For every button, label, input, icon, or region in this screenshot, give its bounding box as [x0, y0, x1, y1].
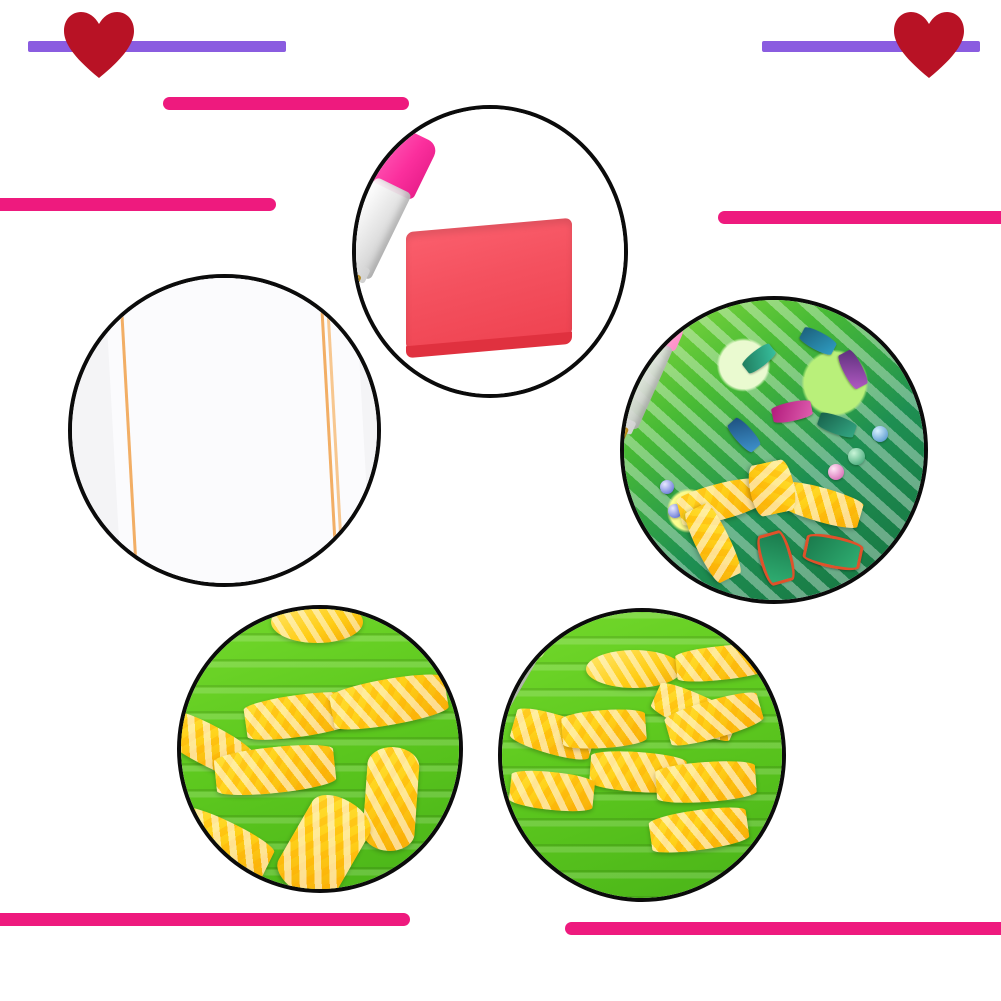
- canvas-jewel: [725, 416, 762, 455]
- step-5-scene: [622, 298, 926, 602]
- tray-diamond: [269, 785, 378, 893]
- tray-diamond: [271, 605, 363, 643]
- step-4-photo: [498, 608, 786, 902]
- step-4-scene: [500, 610, 784, 900]
- tray-diamond: [177, 801, 278, 884]
- header-banner: [0, 0, 1001, 92]
- canvas-jewel: [836, 348, 871, 390]
- step-3-scene: [179, 607, 461, 891]
- tray-diamond: [648, 803, 751, 856]
- step-5-label: [718, 211, 1001, 224]
- canvas-dot: [828, 464, 844, 480]
- step-2-photo: [68, 274, 381, 587]
- step-3-photo: [177, 605, 463, 893]
- tray-diamond: [361, 745, 420, 852]
- pen-tip: [620, 421, 629, 471]
- tray-diamond: [508, 768, 596, 815]
- gel-pad: [406, 218, 572, 351]
- diamond-tray: [500, 610, 784, 900]
- legend-chart-photo: [70, 276, 379, 585]
- legend-chart-sheet: [103, 274, 373, 587]
- step-5-photo: [620, 296, 928, 604]
- tray-diamond: [674, 641, 767, 684]
- heart-icon-left: [62, 10, 136, 80]
- canvas-jewel: [816, 410, 858, 440]
- heart-icon-right: [892, 10, 966, 80]
- infographic-canvas: [0, 0, 1001, 1001]
- pen-body: [620, 335, 673, 431]
- step-1-label: [163, 97, 409, 110]
- canvas-dot: [872, 426, 888, 442]
- step-1-photo: [352, 105, 628, 398]
- canvas-dot: [848, 448, 865, 465]
- canvas-dot: [660, 480, 674, 494]
- step-4-label: [565, 922, 1001, 935]
- canvas-jewel: [740, 341, 777, 375]
- chart-edge-stripe-left: [117, 274, 140, 587]
- canvas-leaf: [753, 529, 798, 588]
- step-1-scene: [354, 107, 626, 396]
- tray-diamond: [655, 759, 758, 806]
- canvas-jewel: [770, 398, 813, 425]
- canvas-leaf: [801, 530, 864, 573]
- pen-ring: [498, 705, 499, 732]
- step-2-label: [0, 198, 276, 211]
- step-2-scene: [70, 276, 379, 585]
- canvas-jewel: [798, 325, 838, 358]
- step-3-label: [0, 913, 410, 926]
- tray-diamond: [328, 669, 450, 734]
- printed-canvas: [622, 298, 926, 602]
- diamond-tray: [179, 607, 461, 891]
- tray-diamond: [561, 707, 647, 751]
